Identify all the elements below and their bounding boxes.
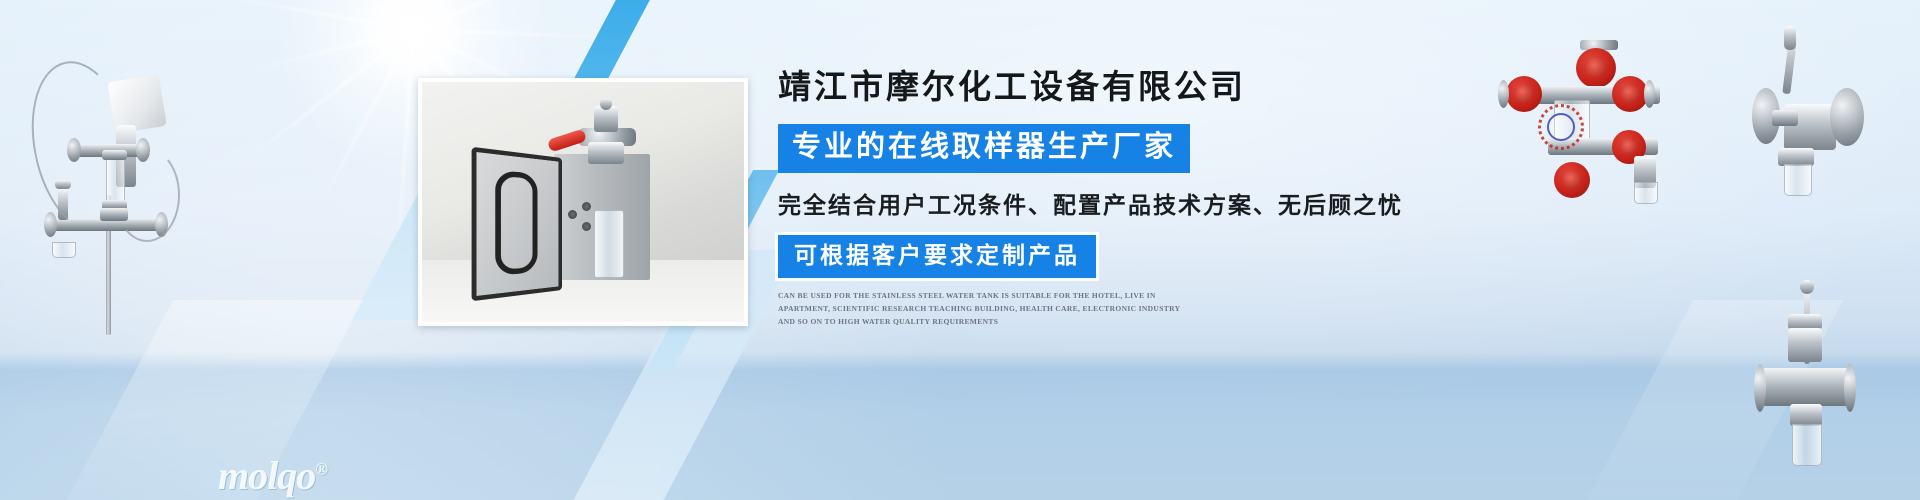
- company-seal-icon: [1538, 104, 1584, 150]
- custom-product-badge: 可根据客户要求定制产品: [778, 235, 1096, 278]
- promo-banner: 靖江市摩尔化工设备有限公司 专业的在线取样器生产厂家 完全结合用户工况条件、配置…: [0, 0, 1920, 500]
- company-name: 靖江市摩尔化工设备有限公司: [778, 72, 1398, 105]
- product-photo-sampler-cabinet: [418, 78, 748, 326]
- copy-block: 靖江市摩尔化工设备有限公司 专业的在线取样器生产厂家 完全结合用户工况条件、配置…: [778, 72, 1398, 328]
- subline-text: 完全结合用户工况条件、配置产品技术方案、无后顾之忧: [778, 191, 1398, 220]
- product-pole-mounted-sampler: [10, 20, 195, 310]
- brand-watermark-text: molqo: [218, 453, 315, 498]
- headline-badge: 专业的在线取样器生产厂家: [778, 124, 1190, 173]
- product-inline-sampling-valve: [1752, 272, 1920, 500]
- product-cross-valve-sampler: [1482, 32, 1732, 192]
- product-flanged-lever-valve: [1742, 22, 1917, 222]
- brand-watermark: molqo®: [218, 452, 328, 499]
- english-description: CAN BE USED FOR THE STAINLESS STEEL WATE…: [778, 290, 1188, 329]
- registered-trademark-icon: ®: [315, 460, 328, 479]
